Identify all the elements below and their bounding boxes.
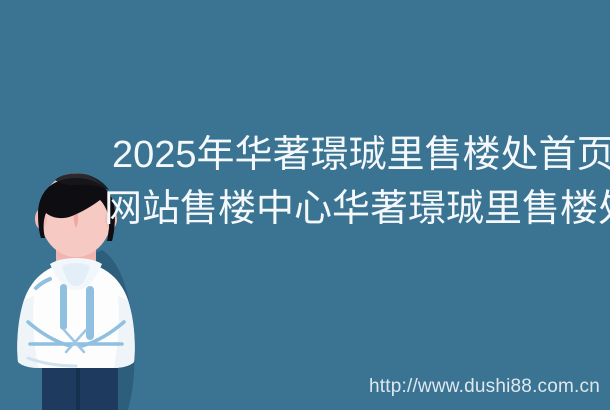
promo-banner: 2025年华著璟珹里售楼处首页 网站售楼中心华著璟珹里售楼处欢 http://w… [0,0,610,410]
headline-line-2: 网站售楼中心华著璟珹里售楼处欢 [104,182,610,236]
nose [74,206,79,228]
headline-line-1: 2025年华著璟珹里售楼处首页 [104,128,610,182]
face [40,173,112,257]
ear-left [35,209,47,229]
pants [42,340,118,410]
banner-headline: 2025年华著璟珹里售楼处首页 网站售楼中心华著璟珹里售楼处欢 [104,128,610,236]
neck [56,236,96,278]
site-url-watermark: http://www.dushi88.com.cn [369,376,600,398]
hoodie [17,258,135,368]
drawstring-right [86,286,94,340]
drawstring-left [60,284,67,330]
